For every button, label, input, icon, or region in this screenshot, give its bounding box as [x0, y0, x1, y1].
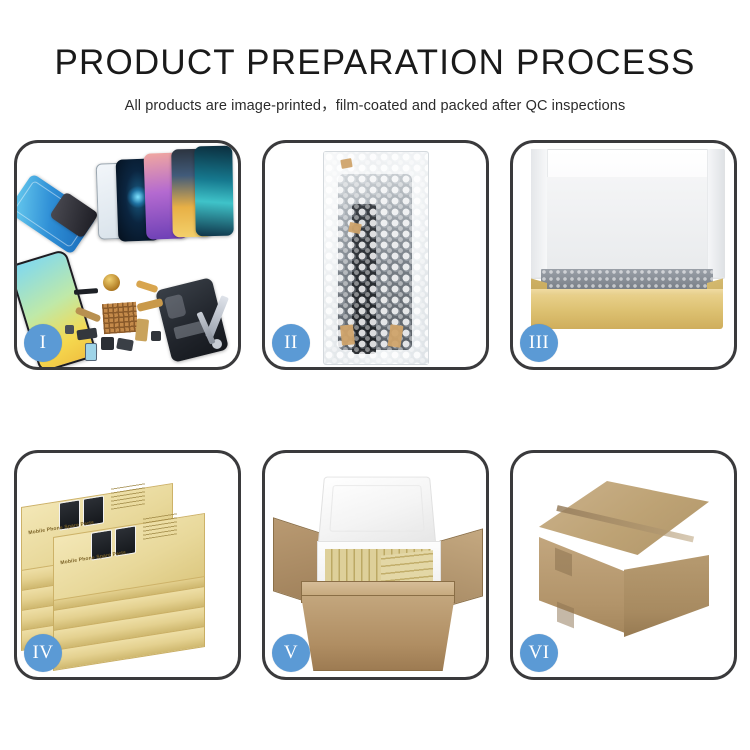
chip-array-part: [102, 302, 138, 334]
process-step-grid: I II III: [14, 140, 736, 680]
carton-front-panel: [301, 595, 455, 671]
speaker-module-part: [103, 274, 120, 291]
page-header: PRODUCT PREPARATION PROCESS All products…: [0, 0, 750, 115]
spare-part: [151, 331, 161, 341]
step-panel-6[interactable]: VI: [510, 450, 737, 680]
page-subtitle: All products are image-printed，film-coat…: [0, 80, 750, 115]
box-lid-right-fold: [707, 149, 724, 277]
tape-piece: [340, 324, 355, 345]
phone-teal-screen: [194, 146, 234, 237]
step-badge-5: V: [272, 634, 310, 672]
carton-left-face: [539, 537, 625, 633]
carton-right-face: [624, 555, 709, 637]
carton-top-face: [539, 481, 709, 555]
page-title: PRODUCT PREPARATION PROCESS: [0, 0, 750, 80]
step-badge-6: VI: [520, 634, 558, 672]
battery-part: [85, 343, 97, 361]
step-panel-2[interactable]: II: [262, 140, 489, 370]
flex-cable-part: [135, 280, 158, 293]
spare-part: [74, 288, 98, 295]
step-panel-3[interactable]: III: [510, 140, 737, 370]
step-badge-4: IV: [24, 634, 62, 672]
step-panel-4[interactable]: Mobile Phone Spare Parts Mobile Phone Sp…: [14, 450, 241, 680]
spare-part: [76, 328, 97, 341]
tape-piece: [348, 222, 362, 234]
step-badge-3: III: [520, 324, 558, 362]
step-badge-2: II: [272, 324, 310, 362]
foam-box-lid: [318, 477, 437, 546]
connector-part: [135, 318, 149, 341]
bubble-wrap-bag: [323, 151, 429, 365]
spare-part: [116, 338, 134, 352]
step-panel-5[interactable]: V: [262, 450, 489, 680]
box-inner-surface: [547, 177, 707, 273]
step-badge-1: I: [24, 324, 62, 362]
spare-part: [101, 337, 114, 350]
box-lid-left-fold: [531, 149, 548, 277]
spare-part: [65, 325, 74, 334]
box-front-panel: [531, 295, 723, 329]
step-panel-1[interactable]: I: [14, 140, 241, 370]
tape-piece: [340, 158, 352, 169]
bubble-highlight-texture: [324, 152, 428, 364]
